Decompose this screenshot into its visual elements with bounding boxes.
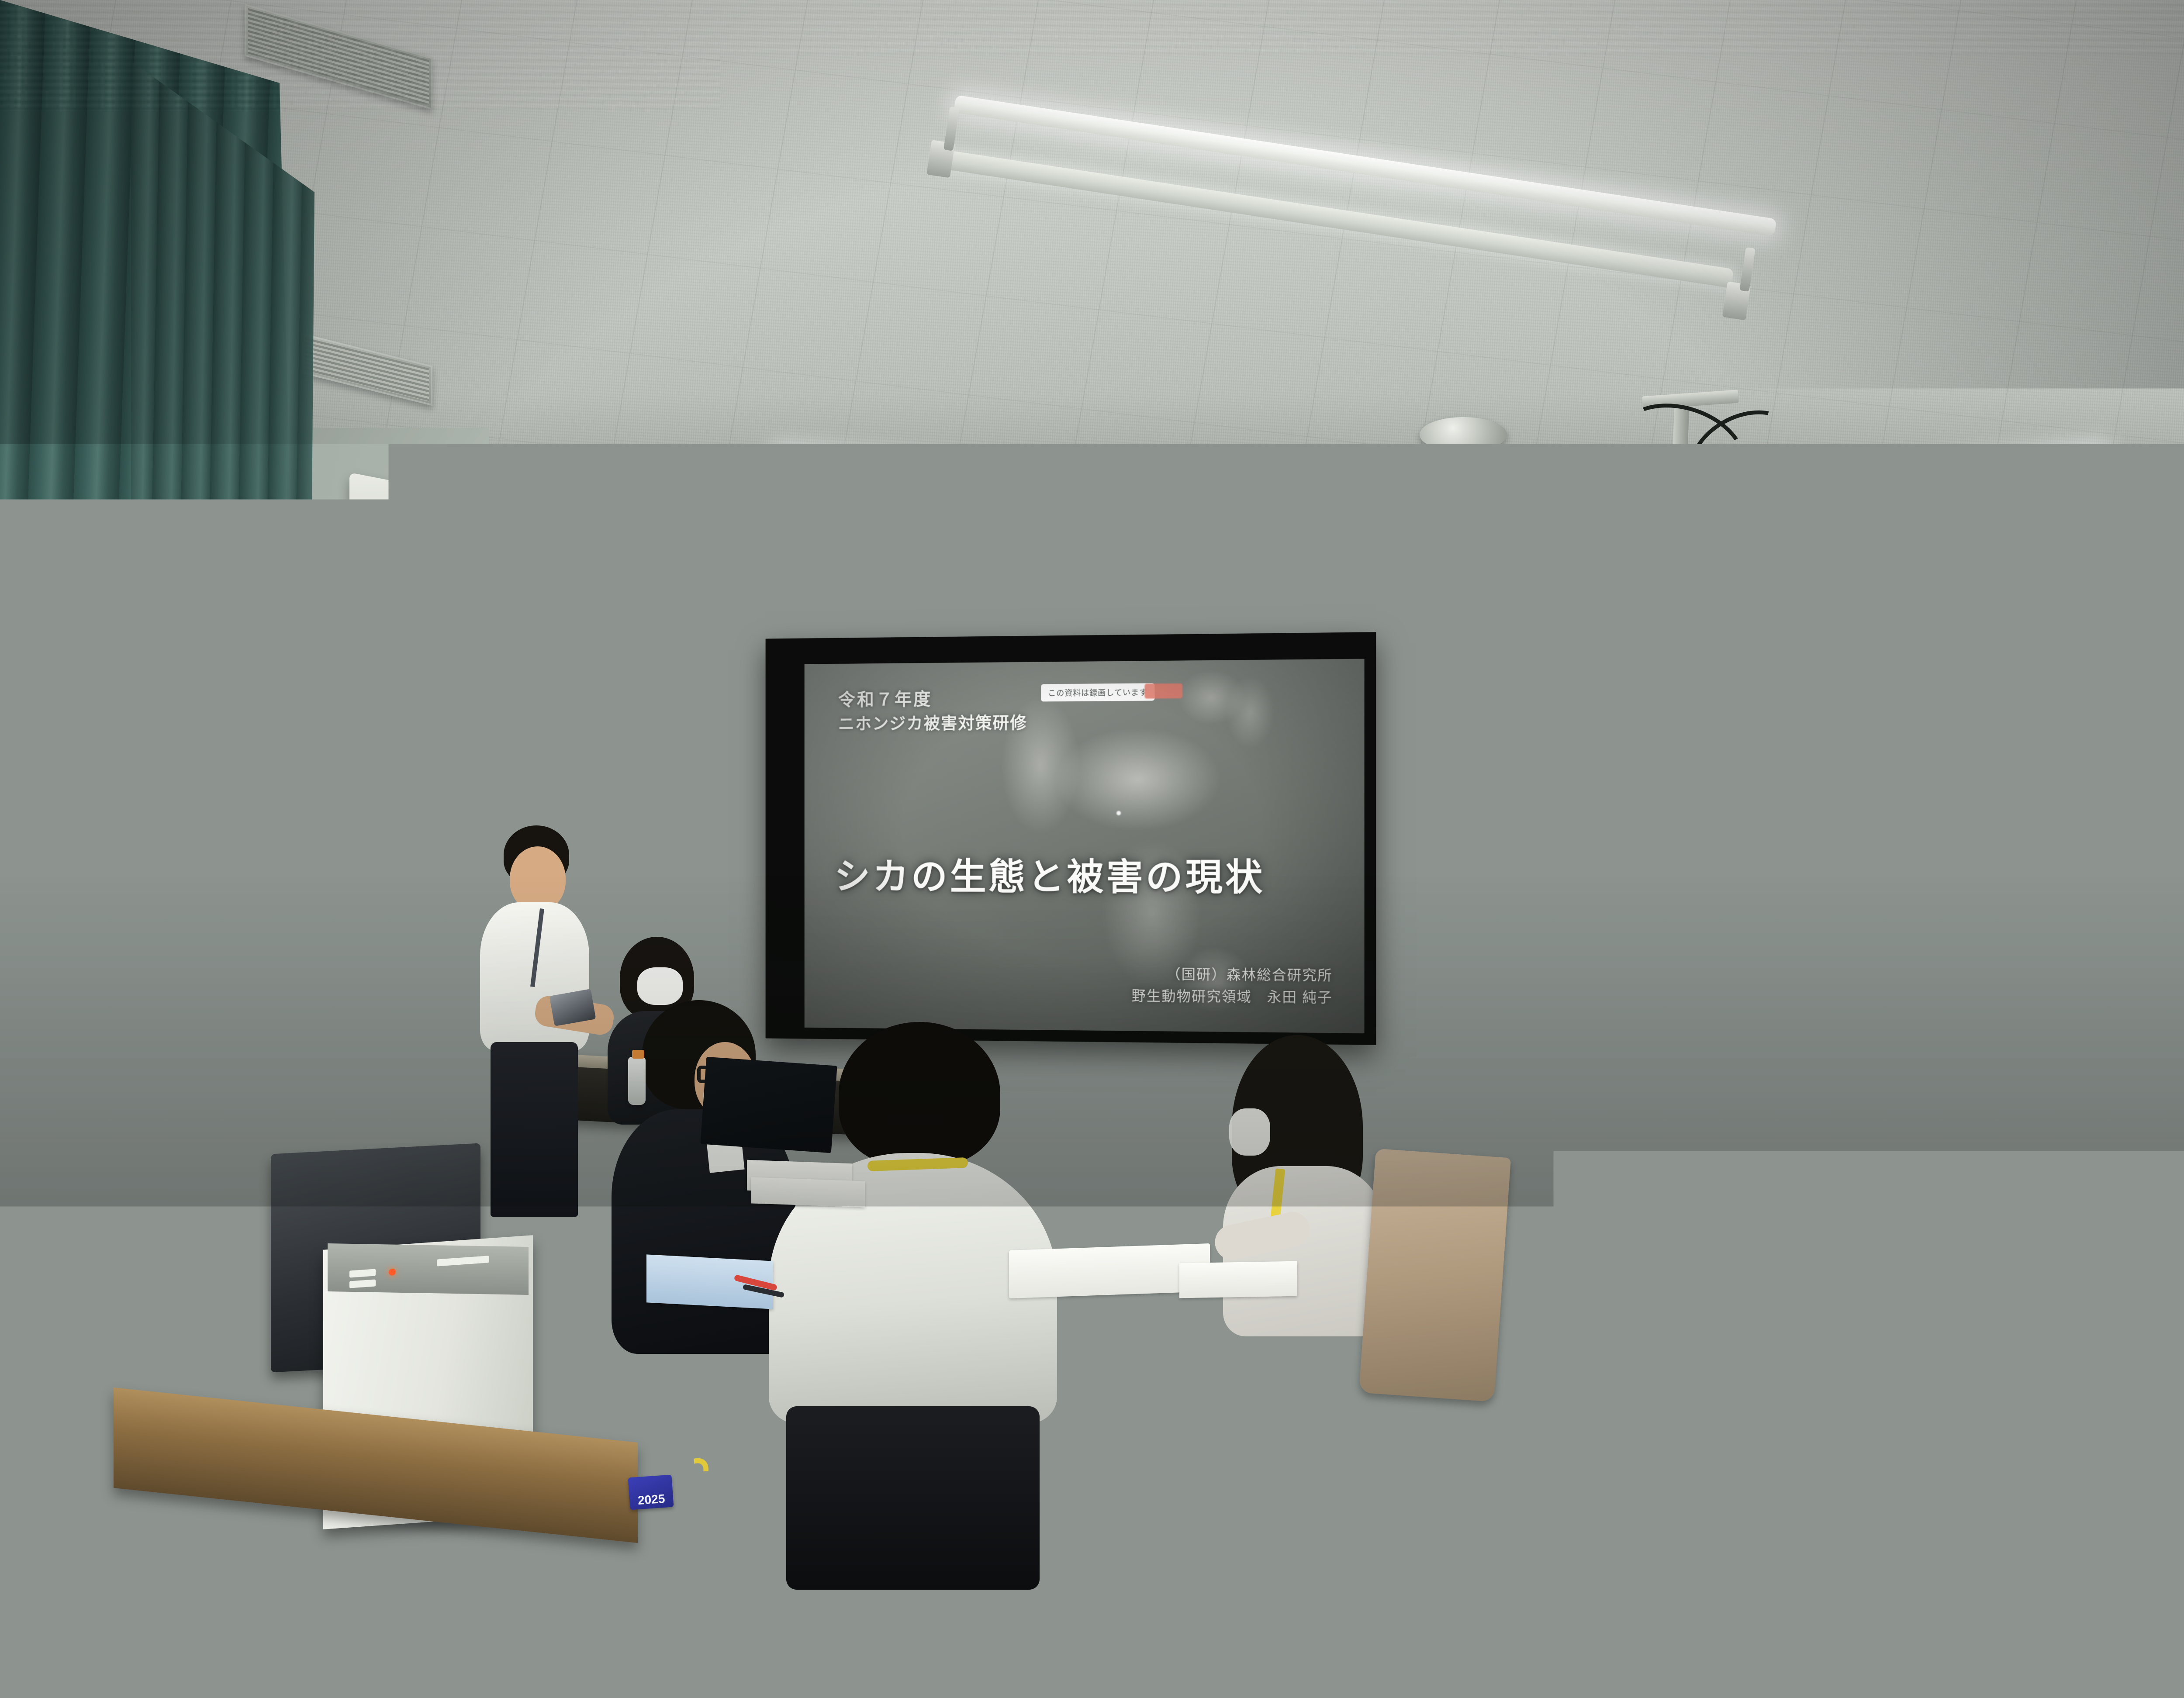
calendar-day: 3	[636, 845, 655, 858]
calendar-day: 8	[598, 856, 616, 870]
calendar-day: 31	[636, 899, 655, 912]
clock-center-hub	[579, 702, 584, 707]
water-bottle-center	[1131, 1111, 1151, 1173]
calendar-day: 22	[598, 884, 616, 897]
water-bottle-right	[1832, 1101, 1851, 1153]
calendar-day: 18	[656, 873, 674, 886]
calendar-day: 2	[617, 844, 636, 857]
projected-slide: 令和７年度 ニホンジカ被害対策研修 この資料は録画しています シカの生態と被害の…	[805, 659, 1365, 1033]
calendar-day: 1	[598, 843, 616, 856]
code-line	[2060, 1393, 2143, 1398]
attendee-head	[1848, 1162, 1966, 1275]
projection-screen: 令和７年度 ニホンジカ被害対策研修 この資料は録画しています シカの生態と被害の…	[766, 632, 1376, 1045]
face-mask	[1229, 1108, 1270, 1156]
code-line	[2048, 1383, 2149, 1388]
light-switch-panel[interactable]	[2180, 978, 2184, 1011]
wall-clock: 12 1 2 3 4 5 6 7 8 9 10 11	[543, 666, 621, 744]
water-bottle-left	[628, 1057, 646, 1105]
attendee-hair	[839, 1022, 1000, 1166]
clock-numeral: 5	[592, 725, 597, 735]
presenter-trousers	[491, 1042, 578, 1217]
projector-lens-icon	[1624, 482, 1653, 507]
attendee-hair	[1957, 983, 2044, 1070]
code-line	[2046, 1361, 2160, 1367]
calendar-day: 23	[617, 884, 636, 897]
coat-on-chair	[1359, 1149, 1511, 1402]
clock-numeral: 4	[604, 715, 609, 725]
laptop-left-front[interactable]	[700, 1057, 837, 1153]
clock-numeral: 2	[608, 691, 612, 701]
seminar-room-photo: 12 1 2 3 4 5 6 7 8 9 10 11 10 1 2 3 4 5 …	[0, 0, 2184, 1698]
clock-numeral: 6	[580, 729, 584, 739]
ceiling-projector	[1615, 470, 1801, 534]
wrist-watch	[2089, 1094, 2119, 1106]
document-right-table	[1970, 1289, 2101, 1338]
code-line	[2051, 1405, 2104, 1409]
face-mask	[637, 967, 683, 1005]
clock-numeral: 7	[562, 725, 567, 735]
code-line	[2096, 1453, 2136, 1456]
clock-numeral: 11	[561, 676, 570, 686]
whiteboard-left	[712, 776, 760, 1028]
calendar-day: 17	[636, 872, 655, 885]
calendar-day: 9	[617, 857, 636, 870]
calendar-day: 15	[598, 870, 616, 883]
calendar-day: 10	[636, 858, 655, 871]
document-presenter-desk	[751, 1177, 865, 1207]
bottle-cap	[1135, 1104, 1147, 1113]
code-line	[2081, 1437, 2129, 1441]
fixture-end-cap	[758, 477, 777, 504]
fixture-hanger	[943, 107, 960, 151]
ceiling-recessed-light	[1219, 563, 1345, 594]
fixture-end-cap	[1427, 555, 1448, 583]
ceiling-speaker-dome	[1420, 417, 1507, 452]
clock-numeral: 10	[549, 689, 558, 698]
clock-numeral: 8	[552, 715, 556, 725]
code-line	[2044, 1352, 2128, 1357]
wall-cabinet	[1629, 786, 1699, 887]
bag-on-floor-center	[673, 1411, 882, 1594]
presenter-head	[510, 846, 566, 911]
calendar-day: 29	[598, 897, 616, 910]
laptop-screen-foreground[interactable]	[2015, 1324, 2184, 1515]
fixture-end-cap	[1234, 534, 1253, 561]
slide-vignette	[805, 659, 1365, 1033]
calendar-day	[656, 900, 674, 913]
bottle-cap	[632, 1050, 644, 1059]
bag-on-floor-far-right	[1400, 1502, 1553, 1629]
laptop-center-right[interactable]	[1542, 1055, 1695, 1172]
bottle-cap	[1836, 1094, 1849, 1102]
calendar-day: 25	[656, 886, 674, 899]
window-daylight-gap	[262, 655, 332, 1127]
calendar-day: 11	[656, 859, 674, 872]
calendar-day: 16	[617, 871, 636, 884]
clock-numeral: 9	[547, 701, 552, 711]
clock-numeral: 3	[609, 701, 614, 711]
document-right-mid	[1660, 1342, 1782, 1386]
code-line	[2057, 1373, 2123, 1377]
fixture-hanger	[1739, 247, 1755, 292]
calendar-day: 4	[656, 845, 674, 858]
fixture-end-cap	[2088, 451, 2108, 479]
clock-hour-hand	[580, 706, 593, 726]
clock-numeral: 1	[597, 677, 602, 687]
presenter	[470, 825, 601, 1218]
attendee-hand	[2086, 1050, 2134, 1098]
projector-vent-dots	[1721, 497, 1774, 507]
document-center-right	[1179, 1261, 1297, 1298]
calendar-day: 30	[617, 898, 636, 911]
paper-cup	[1503, 1061, 1529, 1083]
calendar-day: 24	[636, 885, 655, 898]
